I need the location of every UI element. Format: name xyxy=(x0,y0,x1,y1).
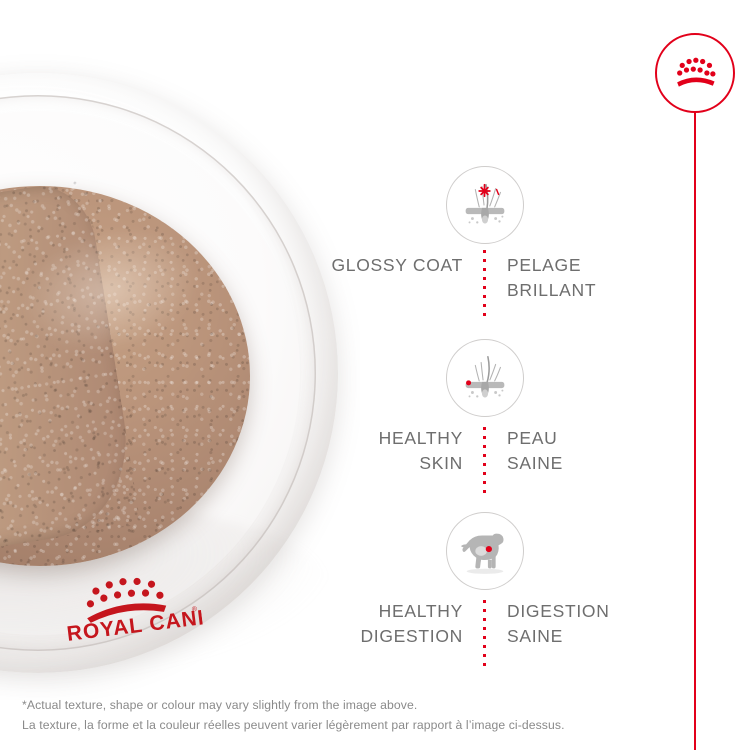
benefit-item: HEALTHY SKIN PEAU SAINE xyxy=(330,323,640,496)
benefit-item: GLOSSY COAT PELAGE BRILLANT xyxy=(330,150,640,323)
disclaimer-fr: La texture, la forme et la couleur réell… xyxy=(22,716,722,736)
benefit-label-fr: PELAGE BRILLANT xyxy=(485,253,640,303)
benefit-label-en: HEALTHY SKIN xyxy=(330,426,485,476)
product-photo: ROYAL CANIN ® xyxy=(0,0,360,700)
footer-disclaimer: *Actual texture, shape or colour may var… xyxy=(22,696,722,736)
benefit-labels: HEALTHY DIGESTION DIGESTION SAINE xyxy=(330,599,640,649)
hair-follicle-shine-icon xyxy=(446,166,524,244)
disclaimer-en: *Actual texture, shape or colour may var… xyxy=(22,696,722,716)
brand-vertical-line xyxy=(694,112,696,750)
product-benefits-panel: ROYAL CANIN ® xyxy=(0,0,750,750)
benefits-list: GLOSSY COAT PELAGE BRILLANT xyxy=(330,150,640,670)
dog-digestion-icon xyxy=(446,512,524,590)
benefit-label-en: GLOSSY COAT xyxy=(330,253,485,278)
benefit-label-fr: DIGESTION SAINE xyxy=(485,599,640,649)
royal-canin-crown-badge xyxy=(655,33,735,113)
benefit-item: HEALTHY DIGESTION DIGESTION SAINE xyxy=(330,496,640,669)
benefit-label-en: HEALTHY DIGESTION xyxy=(330,599,485,649)
benefit-labels: HEALTHY SKIN PEAU SAINE xyxy=(330,426,640,476)
benefit-labels: GLOSSY COAT PELAGE BRILLANT xyxy=(330,253,640,303)
benefit-label-fr: PEAU SAINE xyxy=(485,426,640,476)
hair-follicle-skin-icon xyxy=(446,339,524,417)
